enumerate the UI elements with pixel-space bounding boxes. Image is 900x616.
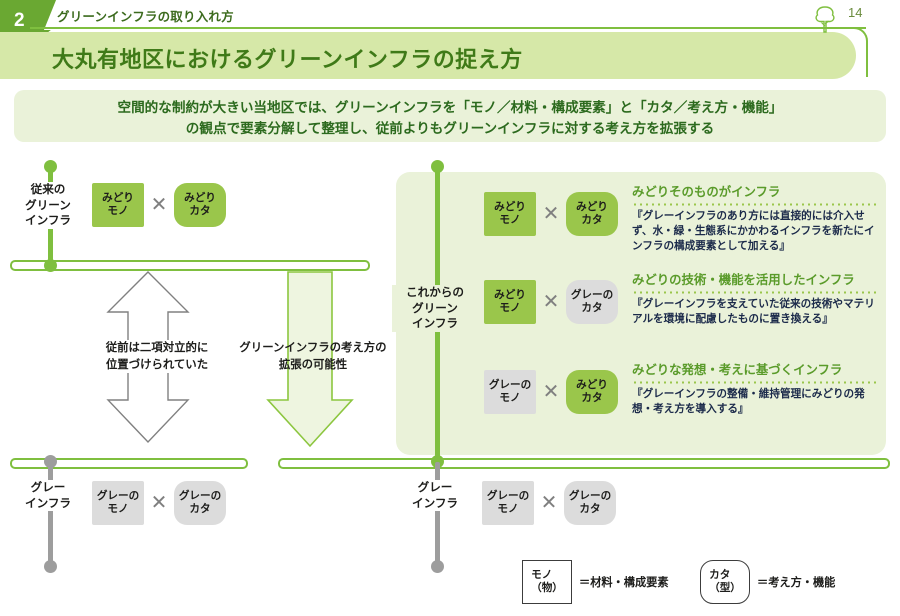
slide-header: 2 グリーンインフラの取り入れ方 大丸有地区におけるグリーンインフラの捉え方 1… <box>0 0 900 84</box>
chip-pair-traditional: みどりモノ ✕ みどりカタ <box>92 183 226 227</box>
lead-line-2: の観点で要素分解して整理し、従前よりもグリーンインフラに対する考え方を拡張する <box>186 121 714 136</box>
node-dot <box>431 160 444 173</box>
caption-expansion-possibility: グリーンインフラの考え方の拡張の可能性 <box>228 340 398 373</box>
legend-item-kata: カタ（型） ＝考え方・機能 <box>700 560 835 604</box>
tree-icon <box>812 4 838 39</box>
connector-grey-infra-right <box>435 462 440 566</box>
node-dot <box>44 160 57 173</box>
chip-midori-mono: みどりモノ <box>92 183 144 227</box>
legend-desc-kata: ＝考え方・機能 <box>757 574 835 590</box>
caption-binary-opposition: 従前は二項対立的に位置づけられていた <box>82 340 232 373</box>
node-dot <box>44 259 57 272</box>
chip-grey-kata: グレーのカタ <box>174 481 226 525</box>
chip-pair-grey-left: グレーのモノ ✕ グレーのカタ <box>92 481 226 525</box>
label-future-gi: これからのグリーンインフラ <box>392 285 478 332</box>
multiply-icon: ✕ <box>534 493 564 513</box>
lead-banner: 空間的な制約が大きい当地区では、グリーンインフラを「モノ／材料・構成要素」と「カ… <box>14 90 886 142</box>
label-grey-infra-right: グレーインフラ <box>396 480 474 511</box>
label-traditional-gi: 従来のグリーンインフラ <box>11 182 85 229</box>
multiply-icon: ✕ <box>144 493 174 513</box>
multiply-icon: ✕ <box>144 195 174 215</box>
page-title: 大丸有地区におけるグリーンインフラの捉え方 <box>52 42 523 74</box>
header-rule <box>30 27 866 29</box>
header-kicker: グリーンインフラの取り入れ方 <box>57 6 234 25</box>
connector-grey-infra-left <box>48 460 53 566</box>
diagram: みどりモノ ✕ みどりカタ みどりそのものがインフラ 『グレーインフラのあり方に… <box>0 150 900 616</box>
legend-box-kata: カタ（型） <box>700 560 750 604</box>
node-dot <box>44 455 57 468</box>
rail-bottom-right <box>278 458 890 469</box>
chip-grey-kata: グレーのカタ <box>564 481 616 525</box>
legend: モノ（物） ＝材料・構成要素 カタ（型） ＝考え方・機能 <box>0 556 900 614</box>
lead-text: 空間的な制約が大きい当地区では、グリーンインフラを「モノ／材料・構成要素」と「カ… <box>14 97 886 139</box>
chip-midori-kata: みどりカタ <box>174 183 226 227</box>
legend-box-mono: モノ（物） <box>522 560 572 604</box>
legend-desc-mono: ＝材料・構成要素 <box>579 574 669 590</box>
legend-item-mono: モノ（物） ＝材料・構成要素 <box>522 560 669 604</box>
page-number: 14 <box>848 5 862 20</box>
chip-pair-grey-right: グレーのモノ ✕ グレーのカタ <box>482 481 616 525</box>
chip-grey-mono: グレーのモノ <box>92 481 144 525</box>
slide: 2 グリーンインフラの取り入れ方 大丸有地区におけるグリーンインフラの捉え方 1… <box>0 0 900 616</box>
page-title-bar: 大丸有地区におけるグリーンインフラの捉え方 <box>0 32 856 79</box>
label-grey-infra-left: グレーインフラ <box>11 480 85 511</box>
lead-line-1: 空間的な制約が大きい当地区では、グリーンインフラを「モノ／材料・構成要素」と「カ… <box>117 100 782 115</box>
chip-grey-mono: グレーのモノ <box>482 481 534 525</box>
rail-top-left <box>10 260 370 271</box>
